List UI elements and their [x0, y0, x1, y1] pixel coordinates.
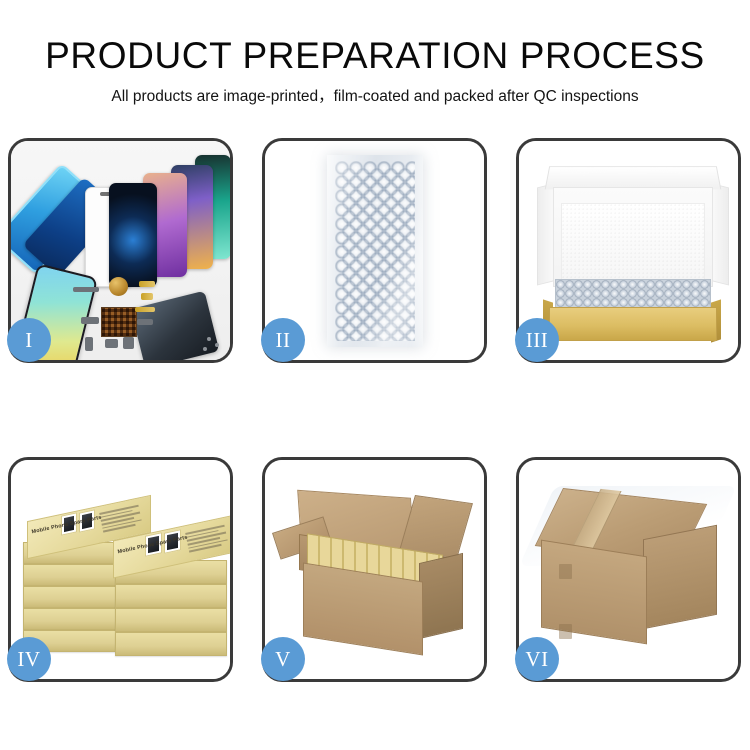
process-step-panel-2: II — [262, 138, 487, 363]
carton-handle-tab-icon — [559, 564, 572, 579]
product-preparation-process-page: PRODUCT PREPARATION PROCESS All products… — [0, 0, 750, 750]
chip-grid-icon — [101, 307, 137, 337]
process-step-panel-3: III — [516, 138, 741, 363]
process-step-panel-6: VI — [516, 457, 741, 682]
box-lid-icon — [545, 166, 722, 189]
step-badge-3: III — [515, 318, 559, 362]
process-step-panel-4: Mobile Phone Spare Parts Mobile Phone Sp… — [8, 457, 233, 682]
flex-cable-long-icon — [135, 307, 155, 312]
step-badge-4: IV — [7, 637, 51, 681]
part-battery-icon — [123, 337, 134, 349]
speaker-module-icon — [109, 277, 128, 296]
screw-icon — [203, 347, 207, 351]
part-flex-icon — [137, 319, 153, 325]
part-bracket-icon — [81, 317, 99, 324]
carton-side-icon — [419, 553, 463, 639]
step-badge-2: II — [261, 318, 305, 362]
bubble-wrap-pouch-icon — [327, 155, 423, 347]
flex-cable-small-icon — [141, 293, 153, 300]
flex-cable-icon — [139, 281, 155, 287]
step-badge-1: I — [7, 318, 51, 362]
sealed-carton-front-icon — [541, 540, 647, 645]
part-camera-icon — [105, 339, 118, 348]
part-connector-icon — [85, 337, 93, 351]
phone-screen-dark-icon — [109, 183, 157, 287]
box-front-panel-icon — [549, 307, 717, 341]
step-badge-5: V — [261, 637, 305, 681]
page-title: PRODUCT PREPARATION PROCESS — [0, 0, 750, 78]
carton-handle-tab-icon — [559, 624, 572, 639]
process-steps-grid: I II — [8, 138, 742, 682]
screw-icon — [207, 337, 211, 341]
step-badge-6: VI — [515, 637, 559, 681]
sealed-carton-side-icon — [643, 525, 717, 629]
process-step-panel-1: I — [8, 138, 233, 363]
page-header: PRODUCT PREPARATION PROCESS All products… — [0, 0, 750, 107]
process-step-panel-5: V — [262, 457, 487, 682]
foam-liner-icon — [561, 203, 705, 283]
screw-icon — [215, 343, 219, 347]
page-subtitle: All products are image-printed，film-coat… — [0, 78, 750, 107]
part-strip-icon — [73, 287, 99, 292]
